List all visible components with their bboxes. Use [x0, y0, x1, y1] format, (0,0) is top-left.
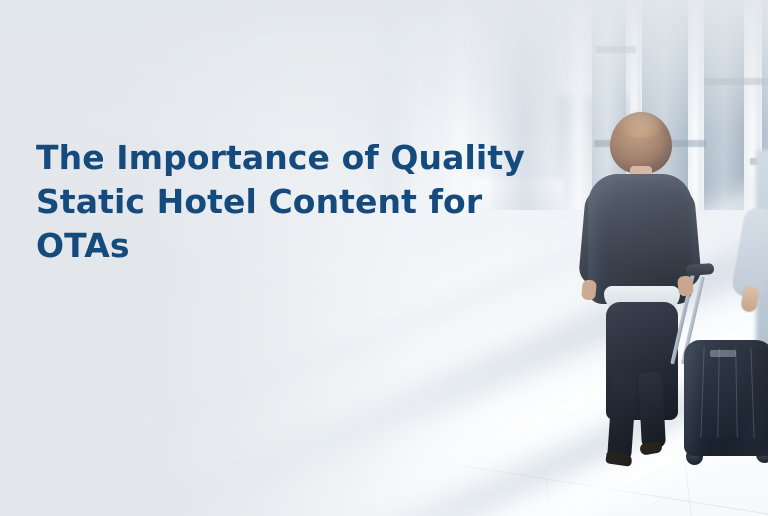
- hero-headline: The Importance of Quality Static Hotel C…: [36, 136, 556, 268]
- hero-banner: The Importance of Quality Static Hotel C…: [0, 0, 768, 516]
